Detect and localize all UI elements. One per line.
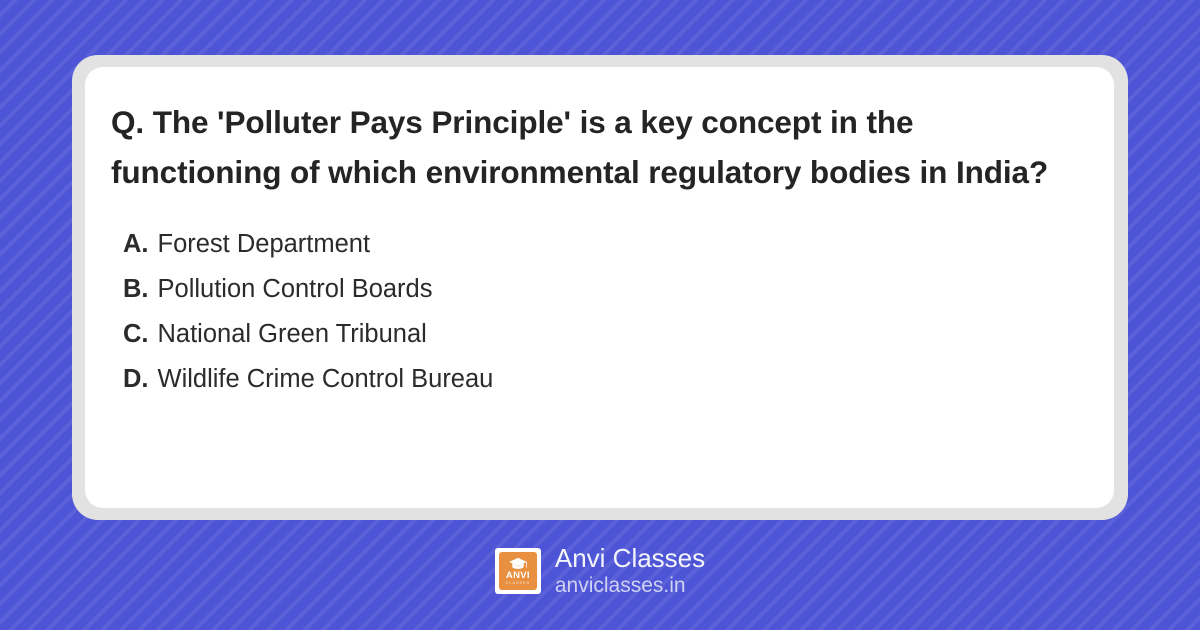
option-d[interactable]: D. Wildlife Crime Control Bureau: [123, 357, 1114, 402]
footer-branding: ANVI CLASSES Anvi Classes anviclasses.in: [0, 543, 1200, 599]
brand-name: Anvi Classes: [555, 543, 705, 573]
brand-logo: ANVI CLASSES: [495, 548, 541, 594]
brand-logo-secondary-text: CLASSES: [506, 581, 531, 586]
quiz-card: Q. The 'Polluter Pays Principle' is a ke…: [85, 67, 1114, 508]
option-d-letter: D.: [123, 357, 149, 402]
option-d-text: Wildlife Crime Control Bureau: [158, 357, 494, 402]
brand-url: anviclasses.in: [555, 573, 705, 599]
question-text: Q. The 'Polluter Pays Principle' is a ke…: [111, 97, 1080, 197]
option-c[interactable]: C. National Green Tribunal: [123, 312, 1114, 357]
option-c-letter: C.: [123, 312, 149, 357]
brand-logo-tile: ANVI CLASSES: [499, 552, 537, 590]
option-c-text: National Green Tribunal: [158, 312, 427, 357]
option-b-letter: B.: [123, 267, 149, 312]
options-list: A. Forest Department B. Pollution Contro…: [85, 222, 1114, 402]
option-a-letter: A.: [123, 222, 149, 267]
option-a-text: Forest Department: [158, 222, 371, 267]
option-b-text: Pollution Control Boards: [158, 267, 433, 312]
graduation-cap-icon: [508, 557, 528, 570]
brand-text-block: Anvi Classes anviclasses.in: [555, 543, 705, 599]
option-a[interactable]: A. Forest Department: [123, 222, 1114, 267]
option-b[interactable]: B. Pollution Control Boards: [123, 267, 1114, 312]
brand-logo-primary-text: ANVI: [506, 571, 530, 580]
